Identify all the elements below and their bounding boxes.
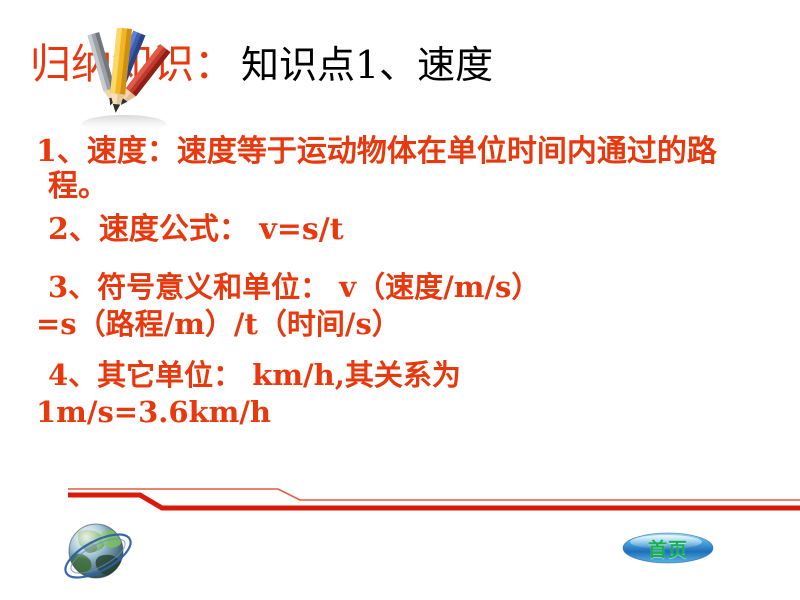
slide-title: 归纳知识： 知识点1、速度 (30, 44, 770, 106)
stepped-divider (0, 482, 800, 516)
body-line-4-continuation: 1m/s=3.6km/h (36, 395, 766, 430)
home-button[interactable]: 首页 (622, 532, 714, 564)
slide-body: 1、速度：速度等于运动物体在单位时间内通过的路程。 2、速度公式： v=s/t … (36, 134, 766, 429)
body-line-3-continuation: =s（路程/m）/t（时间/s） (36, 307, 766, 342)
title-prefix: 归纳知识： (30, 44, 235, 85)
body-line-2: 2、速度公式： v=s/t (48, 212, 766, 248)
body-line-3: 3、符号意义和单位： v（速度/m/s） (48, 270, 748, 305)
home-button-label: 首页 (622, 532, 714, 564)
slide-canvas: 归纳知识： 知识点1、速度 (0, 0, 800, 600)
body-line-1: 1、速度：速度等于运动物体在单位时间内通过的路程。 (36, 134, 728, 204)
page-title: 知识点1、速度 (241, 46, 493, 84)
globe-icon (60, 518, 140, 590)
body-line-4: 4、其它单位： km/h,其关系为 (48, 358, 766, 393)
